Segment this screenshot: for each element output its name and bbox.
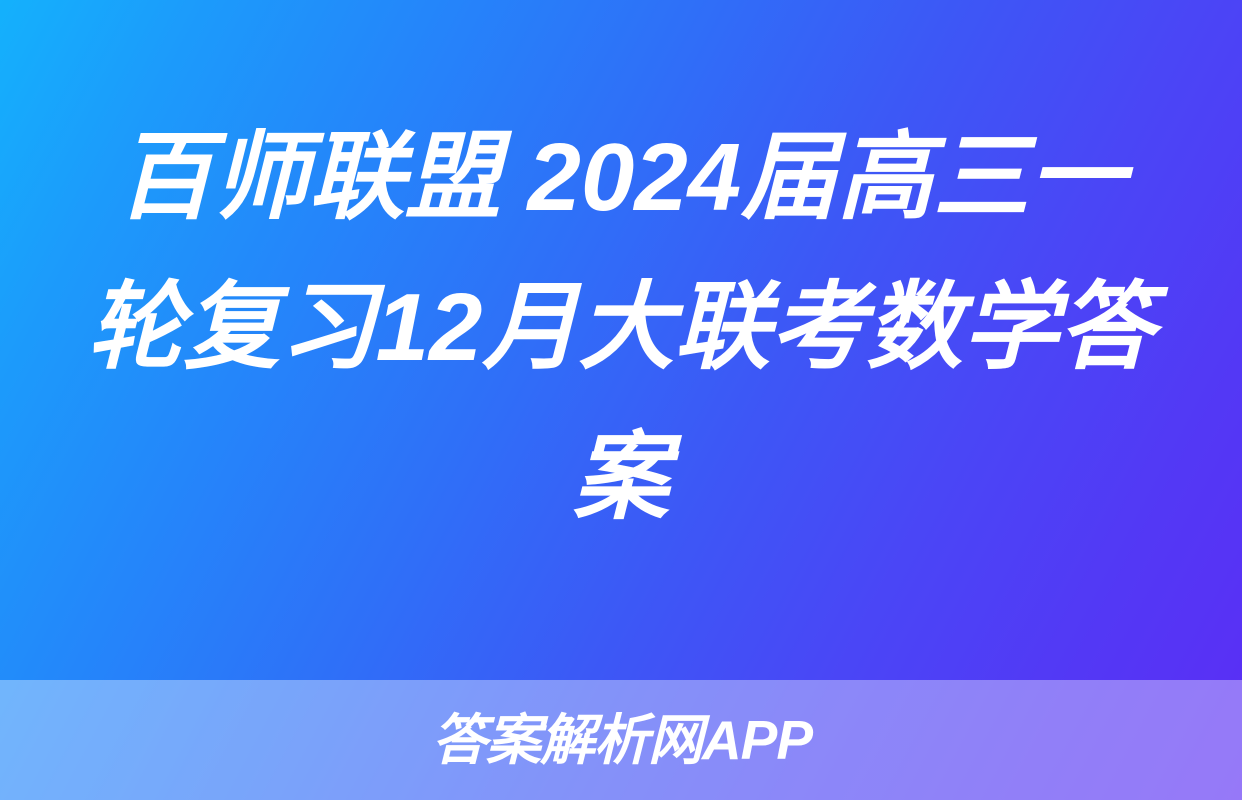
- watermark-label: 答案解析网APP: [432, 713, 812, 768]
- headline-container: 百师联盟 2024届高三一轮复习12月大联考数学答案: [0, 0, 1242, 680]
- page-title: 百师联盟 2024届高三一轮复习12月大联考数学答案: [74, 103, 1168, 553]
- watermark-band: 答案解析网APP: [0, 680, 1242, 800]
- poster-canvas: 百师联盟 2024届高三一轮复习12月大联考数学答案 答案解析网APP: [0, 0, 1242, 800]
